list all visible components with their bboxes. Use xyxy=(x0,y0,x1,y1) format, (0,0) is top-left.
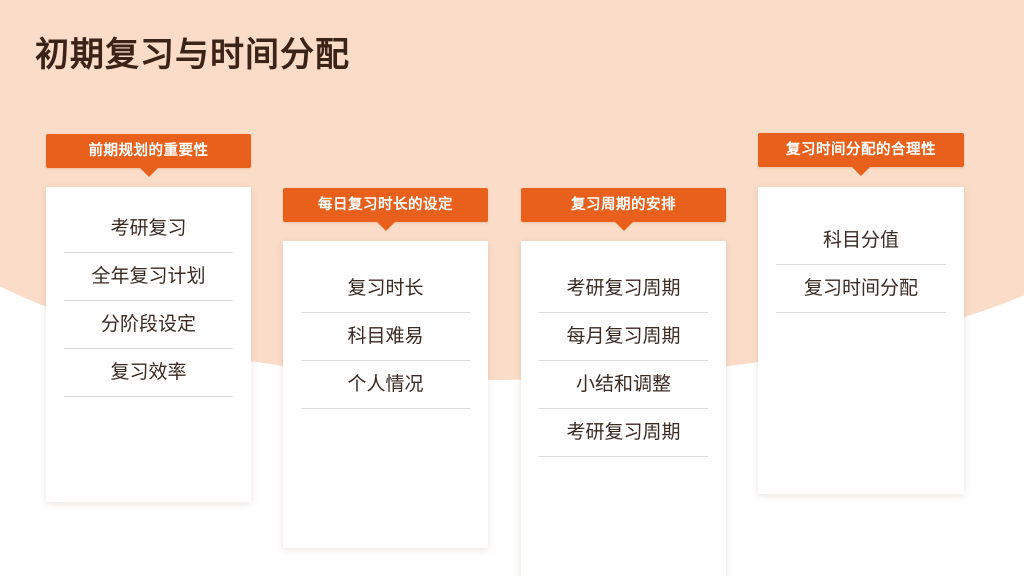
column-4-badge[interactable]: 复习时间分配的合理性 xyxy=(758,133,964,167)
column-1-card: 考研复习 全年复习计划 分阶段设定 复习效率 xyxy=(46,187,251,502)
list-item[interactable]: 科目难易 xyxy=(301,313,470,361)
list-item[interactable]: 分阶段设定 xyxy=(64,301,233,349)
column-1-badge-label: 前期规划的重要性 xyxy=(89,143,209,159)
column-3-card: 考研复习周期 每月复习周期 小结和调整 考研复习周期 xyxy=(521,241,726,576)
column-2-badge[interactable]: 每日复习时长的设定 xyxy=(283,188,488,222)
column-4-card: 科目分值 复习时间分配 xyxy=(758,187,964,494)
column-1-badge[interactable]: 前期规划的重要性 xyxy=(46,134,251,168)
column-3-badge-label: 复习周期的安排 xyxy=(571,197,676,213)
list-item[interactable]: 复习效率 xyxy=(64,349,233,397)
column-2: 每日复习时长的设定 复习时长 科目难易 个人情况 xyxy=(283,188,488,548)
list-item[interactable]: 个人情况 xyxy=(301,361,470,409)
list-item[interactable]: 小结和调整 xyxy=(539,361,708,409)
list-item[interactable]: 考研复习 xyxy=(64,205,233,253)
badge-pointer-icon xyxy=(377,222,395,231)
list-item[interactable]: 考研复习周期 xyxy=(539,265,708,313)
badge-pointer-icon xyxy=(615,222,633,231)
column-4-badge-label: 复习时间分配的合理性 xyxy=(786,142,936,158)
column-2-card: 复习时长 科目难易 个人情况 xyxy=(283,241,488,548)
badge-pointer-icon xyxy=(852,167,870,176)
page-title: 初期复习与时间分配 xyxy=(35,33,350,77)
badge-pointer-icon xyxy=(140,168,158,177)
column-3: 复习周期的安排 考研复习周期 每月复习周期 小结和调整 考研复习周期 xyxy=(521,188,726,576)
list-item[interactable]: 全年复习计划 xyxy=(64,253,233,301)
slide-canvas: 初期复习与时间分配 前期规划的重要性 考研复习 全年复习计划 分阶段设定 复习效… xyxy=(0,0,1024,576)
list-item[interactable]: 复习时长 xyxy=(301,265,470,313)
column-4: 复习时间分配的合理性 科目分值 复习时间分配 xyxy=(758,133,964,494)
column-3-badge[interactable]: 复习周期的安排 xyxy=(521,188,726,222)
list-item[interactable]: 每月复习周期 xyxy=(539,313,708,361)
column-2-badge-label: 每日复习时长的设定 xyxy=(318,197,453,213)
list-item[interactable]: 考研复习周期 xyxy=(539,409,708,457)
list-item[interactable]: 科目分值 xyxy=(776,217,946,265)
column-1: 前期规划的重要性 考研复习 全年复习计划 分阶段设定 复习效率 xyxy=(46,134,251,502)
list-item[interactable]: 复习时间分配 xyxy=(776,265,946,313)
